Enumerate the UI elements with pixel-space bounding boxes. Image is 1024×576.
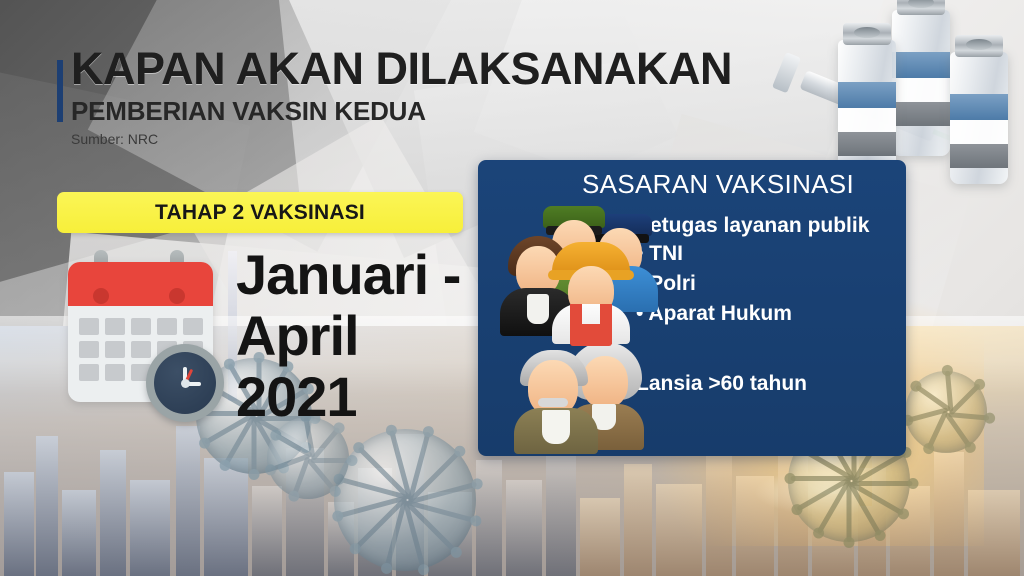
source-label: Sumber: NRC — [57, 129, 732, 149]
vaccine-vial — [892, 10, 950, 156]
judge-collar — [527, 294, 549, 324]
vial-cap — [955, 35, 1003, 57]
calendar-knob — [169, 288, 185, 304]
clock-icon — [146, 344, 224, 422]
panel-title: SASARAN VAKSINASI — [530, 169, 854, 199]
syringe-plunger — [772, 52, 801, 93]
clock-pin — [181, 379, 190, 388]
public-officials-group-icon — [494, 196, 644, 326]
vial-label-band — [838, 108, 896, 132]
date-line-2: April — [236, 305, 466, 366]
date-line-3: 2021 — [236, 366, 466, 427]
group-list-item: • Polri — [636, 269, 896, 299]
calendar-knob — [93, 288, 109, 304]
page-subtitle: PEMBERIAN VAKSIN KEDUA — [57, 96, 732, 126]
clock-face — [154, 352, 216, 414]
vaccination-target-panel: SASARAN VAKSINASI — [478, 160, 906, 456]
public-officials-text: Petugas layanan publik • TNI • Polri • A… — [636, 212, 896, 329]
vial-label-band — [838, 132, 896, 156]
calendar-clock-icon — [68, 252, 228, 412]
date-line-1: Januari - — [236, 244, 466, 305]
date-range: Januari - April 2021 — [236, 244, 466, 427]
title-accent-bar — [57, 60, 63, 122]
calendar-header — [68, 262, 213, 306]
avatar-shirt — [542, 410, 570, 444]
vial-label-band — [950, 144, 1008, 168]
phase-banner-label: TAHAP 2 VAKSINASI — [155, 201, 365, 225]
page-title: KAPAN AKAN DILAKSANAKAN — [57, 42, 732, 96]
phase-banner: TAHAP 2 VAKSINASI — [57, 192, 463, 233]
vaccine-vial — [838, 40, 896, 172]
group-list-item: • Aparat Hukum — [636, 299, 896, 329]
vial-label-band — [892, 78, 950, 102]
worker-avatar — [548, 242, 634, 338]
group-heading: Petugas layanan publik — [636, 212, 896, 239]
header-block: KAPAN AKAN DILAKSANAKAN PEMBERIAN VAKSIN… — [57, 42, 732, 149]
vial-label-band — [950, 120, 1008, 144]
elderly-text: Lansia >60 tahun — [636, 372, 807, 396]
vial-cap — [897, 0, 945, 15]
vial-cap — [843, 23, 891, 45]
elderly-man-avatar — [514, 350, 598, 448]
avatar-moustache — [538, 398, 568, 407]
vial-label-band — [892, 102, 950, 126]
vial-label-band — [950, 94, 1008, 120]
elderly-couple-icon — [514, 338, 634, 448]
vial-label-band — [892, 52, 950, 78]
vaccine-vial — [950, 52, 1008, 184]
infographic-canvas: KAPAN AKAN DILAKSANAKAN PEMBERIAN VAKSIN… — [0, 0, 1024, 576]
group-list-item: • TNI — [636, 239, 896, 269]
vial-label-band — [838, 82, 896, 108]
worker-overall-bib — [570, 324, 612, 346]
